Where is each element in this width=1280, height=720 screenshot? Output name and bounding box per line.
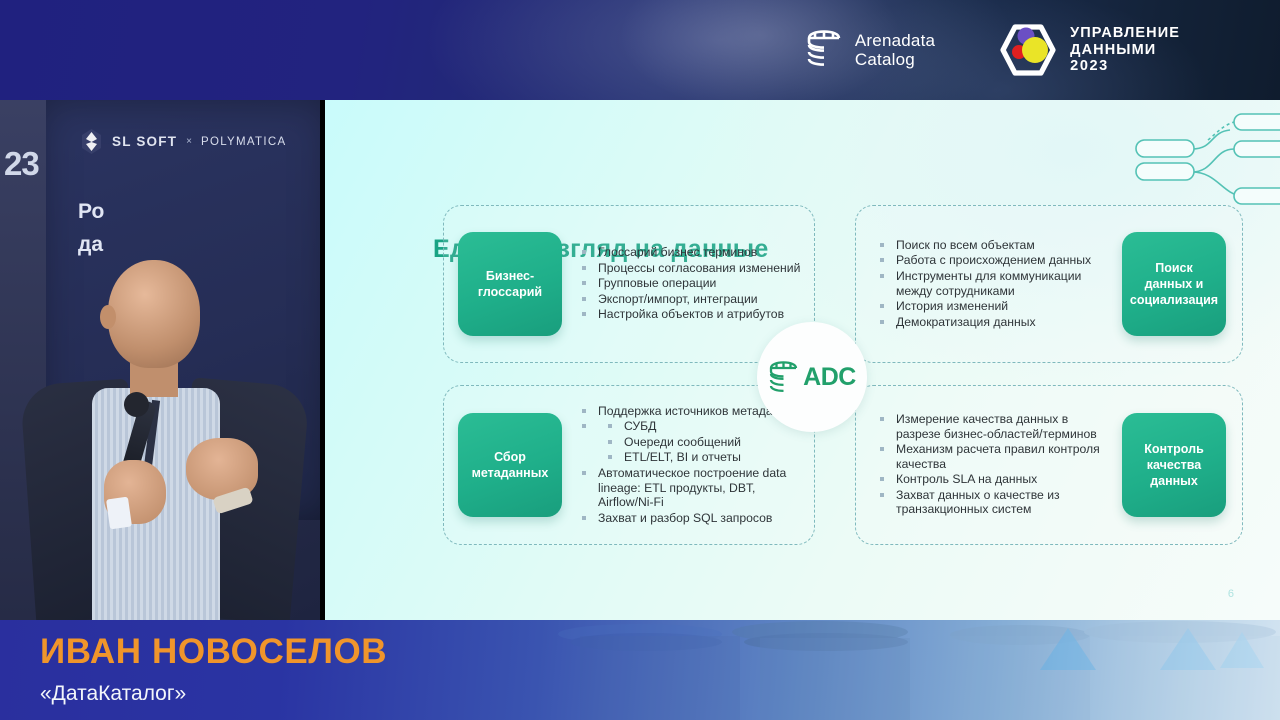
chip-label: Бизнес-глоссарий bbox=[478, 268, 542, 300]
speaker-head bbox=[108, 260, 200, 368]
bullets-data-search-socialization: Поиск по всем объектам Работа с происхож… bbox=[856, 238, 1122, 331]
card-business-glossary: Бизнес-глоссарий Глоссарий бизнес термин… bbox=[443, 205, 815, 363]
speaker-organization: «ДатаКаталог» bbox=[40, 682, 186, 706]
adc-label: ADC bbox=[803, 363, 856, 392]
list-item: ETL/ELT, BI и отчеты bbox=[606, 450, 806, 465]
database-icon bbox=[805, 29, 845, 71]
list-item: Захват и разбор SQL запросов bbox=[580, 511, 806, 526]
chip-business-glossary: Бизнес-глоссарий bbox=[458, 232, 562, 336]
event-header-bar: Arenadata Catalog УПРАВЛЕНИЕ ДАННЫМИ bbox=[0, 0, 1280, 100]
list-item: Экспорт/импорт, интеграции bbox=[580, 292, 806, 307]
card-data-search-socialization: Поискданных исоциализация Поиск по всем … bbox=[855, 205, 1243, 363]
adc-center-badge: ADC bbox=[757, 322, 867, 432]
chip-label: Контролькачестваданных bbox=[1144, 441, 1204, 489]
event-logo: УПРАВЛЕНИЕ ДАННЫМИ 2023 bbox=[997, 19, 1180, 81]
coins-background-graphic bbox=[520, 620, 1280, 720]
arenadata-line2: Catalog bbox=[855, 50, 915, 69]
bullets-metadata-collection: Поддержка источников метаданных: СУБД Оч… bbox=[562, 404, 814, 527]
speaker-name: ИВАН НОВОСЕЛОВ bbox=[40, 632, 387, 672]
speaker-lower-third: ИВАН НОВОСЕЛОВ «ДатаКаталог» bbox=[0, 620, 1280, 720]
speaker-figure bbox=[0, 100, 320, 620]
speaker-ear bbox=[100, 305, 116, 329]
slide-page-number: 6 bbox=[1228, 588, 1234, 600]
list-item: Глоссарий бизнес терминов bbox=[580, 245, 806, 260]
adc-database-icon bbox=[768, 360, 800, 394]
list-item: Групповые операции bbox=[580, 276, 806, 291]
chip-data-quality-control: Контролькачестваданных bbox=[1122, 413, 1226, 517]
list-item: Измерение качества данных в разрезе бизн… bbox=[878, 412, 1116, 441]
list-item: Автоматическое построение data lineage: … bbox=[580, 466, 806, 510]
presentation-slide: Единый взгляд на данные Бизнес-глоссарий… bbox=[325, 100, 1280, 620]
card-metadata-collection: Сборметаданных Поддержка источников мета… bbox=[443, 385, 815, 545]
arenadata-catalog-logo: Arenadata Catalog bbox=[805, 29, 935, 71]
list-item: Работа с происхождением данных bbox=[878, 253, 1116, 268]
chip-data-search-socialization: Поискданных исоциализация bbox=[1122, 232, 1226, 336]
event-title: УПРАВЛЕНИЕ ДАННЫМИ 2023 bbox=[1070, 25, 1180, 75]
arenadata-line1: Arenadata bbox=[855, 31, 935, 50]
list-item: Контроль SLA на данных bbox=[878, 472, 1116, 487]
list-item: СУБД bbox=[606, 419, 806, 434]
list-item: Механизм расчета правил контроля качеств… bbox=[878, 442, 1116, 471]
list-item: Инструменты для коммуникации между сотру… bbox=[878, 269, 1116, 298]
list-item: Процессы согласования изменений bbox=[580, 261, 806, 276]
speaker-badge bbox=[106, 497, 132, 530]
header-logos: Arenadata Catalog УПРАВЛЕНИЕ ДАННЫМИ bbox=[805, 0, 1180, 100]
chip-label: Сборметаданных bbox=[472, 449, 549, 481]
list-item: Очереди сообщений bbox=[606, 435, 806, 450]
event-year: 2023 bbox=[1070, 58, 1109, 74]
list-item: Захват данных о качестве из транзакционн… bbox=[878, 488, 1116, 517]
event-line1: УПРАВЛЕНИЕ bbox=[1070, 25, 1180, 41]
list-item: Демократизация данных bbox=[878, 315, 1116, 330]
list-item: Настройка объектов и атрибутов bbox=[580, 307, 806, 322]
chip-label: Поискданных исоциализация bbox=[1130, 260, 1218, 308]
speaker-video-feed: 23 SL SOFT × POLYMATICA Ро дa bbox=[0, 100, 320, 620]
list-item: История изменений bbox=[878, 299, 1116, 314]
event-line2: ДАННЫМИ bbox=[1070, 42, 1156, 58]
list-item: Поиск по всем объектам bbox=[878, 238, 1116, 253]
bullets-data-quality-control: Измерение качества данных в разрезе бизн… bbox=[856, 412, 1122, 518]
list-item-nested-group: СУБД Очереди сообщений ETL/ELT, BI и отч… bbox=[580, 419, 806, 465]
lineage-decoration-graphic bbox=[1122, 104, 1280, 219]
chip-metadata-collection: Сборметаданных bbox=[458, 413, 562, 517]
bullets-business-glossary: Глоссарий бизнес терминов Процессы согла… bbox=[562, 245, 814, 323]
card-data-quality-control: Контролькачестваданных Измерение качеств… bbox=[855, 385, 1243, 545]
hexagon-spheres-icon bbox=[997, 19, 1059, 81]
arenadata-catalog-label: Arenadata Catalog bbox=[855, 31, 935, 69]
broadcast-frame: Arenadata Catalog УПРАВЛЕНИЕ ДАННЫМИ bbox=[0, 0, 1280, 720]
